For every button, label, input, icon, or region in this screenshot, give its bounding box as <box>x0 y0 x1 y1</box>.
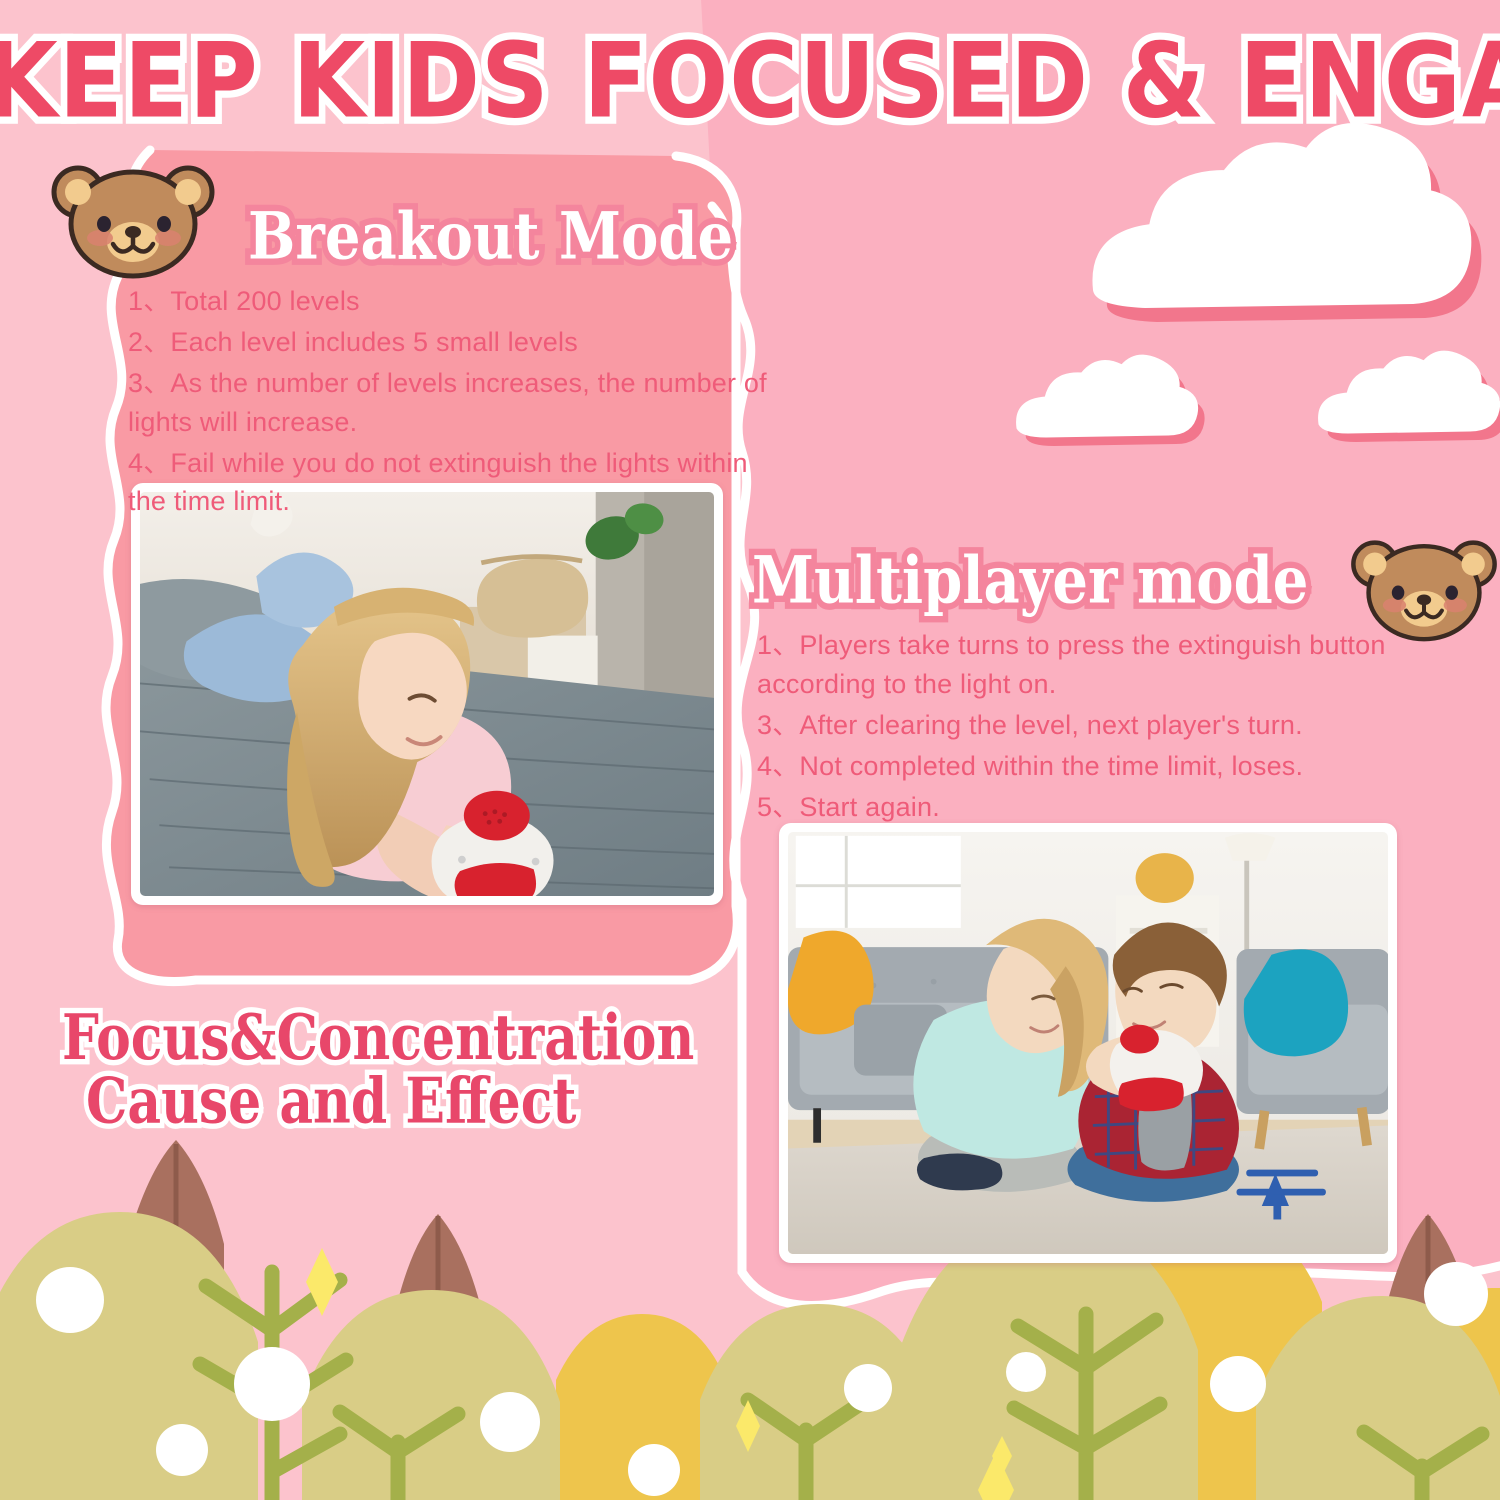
list-item: 5、Start again. <box>757 788 1407 827</box>
list-item: 1、Players take turns to press the exting… <box>757 626 1407 704</box>
bear-icon <box>48 160 218 282</box>
heading-focus-line1: Focus&Concentration <box>62 1001 694 1074</box>
heading-focus-line2: Cause and Effect <box>62 1070 694 1134</box>
photo-two-kids-playing <box>779 823 1397 1263</box>
list-item: 1、Total 200 levels <box>128 282 778 321</box>
list-item: 2、Each level includes 5 small levels <box>128 323 778 362</box>
photo-girl-image <box>140 492 714 896</box>
list-item: 4、Fail while you do not extinguish the l… <box>128 444 778 522</box>
heading-focus-concentration: Focus&Concentration Cause and Effect <box>62 1006 694 1133</box>
list-multiplayer-mode: 1、Players take turns to press the exting… <box>757 626 1407 828</box>
bear-icon <box>1348 534 1500 646</box>
bear-mascot-right <box>1348 534 1500 646</box>
heading-multiplayer-mode: Multiplayer mode <box>752 548 1308 614</box>
list-item: 3、After clearing the level, next player'… <box>757 706 1407 745</box>
photo-girl-on-bed <box>131 483 723 905</box>
photo-kids-image <box>788 832 1388 1254</box>
list-item: 3、As the number of levels increases, the… <box>128 364 778 442</box>
bear-mascot-left <box>48 160 218 282</box>
list-breakout-mode: 1、Total 200 levels 2、Each level includes… <box>128 282 778 523</box>
heading-breakout-mode: Breakout Mode <box>248 204 733 270</box>
list-item: 4、Not completed within the time limit, l… <box>757 747 1407 786</box>
poster-canvas: KEEP KIDS FOCUSED & ENGAGED Breakout Mod… <box>0 0 1500 1500</box>
page-title: KEEP KIDS FOCUSED & ENGAGED <box>0 30 1500 133</box>
